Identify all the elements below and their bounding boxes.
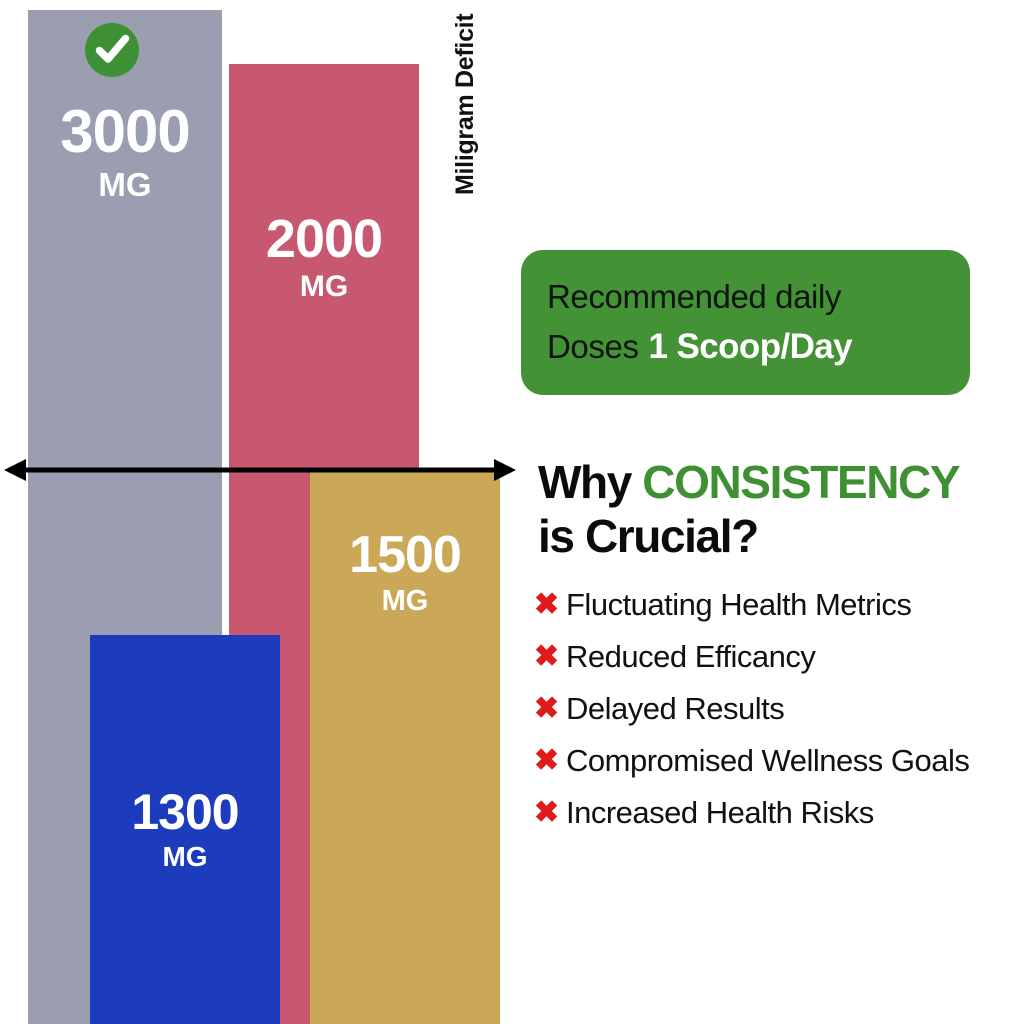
content-panel: Recommended daily Doses1 Scoop/Day Why C…: [520, 0, 1012, 1024]
bar-2000mg-unit: MG: [229, 272, 419, 302]
bar-3000mg-label: 3000 MG: [28, 102, 222, 201]
page-title: Why CONSISTENCY is Crucial?: [538, 455, 1012, 563]
list-item: ✖ Increased Health Risks: [534, 792, 1012, 834]
list-item: ✖ Compromised Wellness Goals: [534, 740, 1012, 782]
dose-badge-line2: Doses1 Scoop/Day: [547, 322, 944, 372]
bar-1300mg: 1300 MG: [90, 635, 280, 1024]
list-item-label: Reduced Efficancy: [566, 636, 1012, 678]
bar-2000mg-value: 2000: [229, 212, 419, 266]
list-item: ✖ Fluctuating Health Metrics: [534, 584, 1012, 626]
list-item: ✖ Delayed Results: [534, 688, 1012, 730]
infographic-canvas: 3000 MG 2000 MG 1500 MG 1300 MG: [0, 0, 1012, 1024]
bar-1500mg-unit: MG: [310, 587, 500, 616]
bar-1500mg: 1500 MG: [310, 472, 500, 1024]
bar-3000mg-value: 3000: [28, 102, 222, 162]
headline-line-1: Why CONSISTENCY: [538, 455, 1012, 509]
bar-chart: 3000 MG 2000 MG 1500 MG 1300 MG: [0, 0, 520, 1024]
dose-badge-value: 1 Scoop/Day: [649, 327, 852, 366]
cross-icon: ✖: [534, 642, 564, 672]
bar-3000mg-unit: MG: [28, 168, 222, 201]
dose-badge-line1: Recommended daily: [547, 272, 944, 322]
bar-1300mg-unit: MG: [90, 843, 280, 871]
headline-prefix: Why: [538, 456, 642, 508]
list-item-label: Increased Health Risks: [566, 792, 1012, 834]
bar-1300mg-value: 1300: [90, 787, 280, 837]
list-item-label: Fluctuating Health Metrics: [566, 584, 1012, 626]
axis-label-miligram-deficit: Miligram Deficit: [450, 0, 480, 195]
check-circle-icon: [85, 23, 139, 77]
list-item-label: Delayed Results: [566, 688, 1012, 730]
list-item-label: Compromised Wellness Goals: [566, 740, 1012, 782]
dose-badge-prefix: Doses: [547, 328, 639, 365]
cross-icon: ✖: [534, 694, 564, 724]
bar-1300mg-label: 1300 MG: [90, 787, 280, 871]
headline-accent: CONSISTENCY: [642, 456, 959, 508]
bar-2000mg-label: 2000 MG: [229, 212, 419, 302]
bar-1500mg-label: 1500 MG: [310, 529, 500, 616]
headline-line-2: is Crucial?: [538, 509, 1012, 563]
bar-1500mg-value: 1500: [310, 529, 500, 581]
risk-list: ✖ Fluctuating Health Metrics ✖ Reduced E…: [534, 584, 1012, 844]
cross-icon: ✖: [534, 590, 564, 620]
recommended-dose-badge: Recommended daily Doses1 Scoop/Day: [521, 250, 970, 395]
cross-icon: ✖: [534, 798, 564, 828]
list-item: ✖ Reduced Efficancy: [534, 636, 1012, 678]
cross-icon: ✖: [534, 746, 564, 776]
